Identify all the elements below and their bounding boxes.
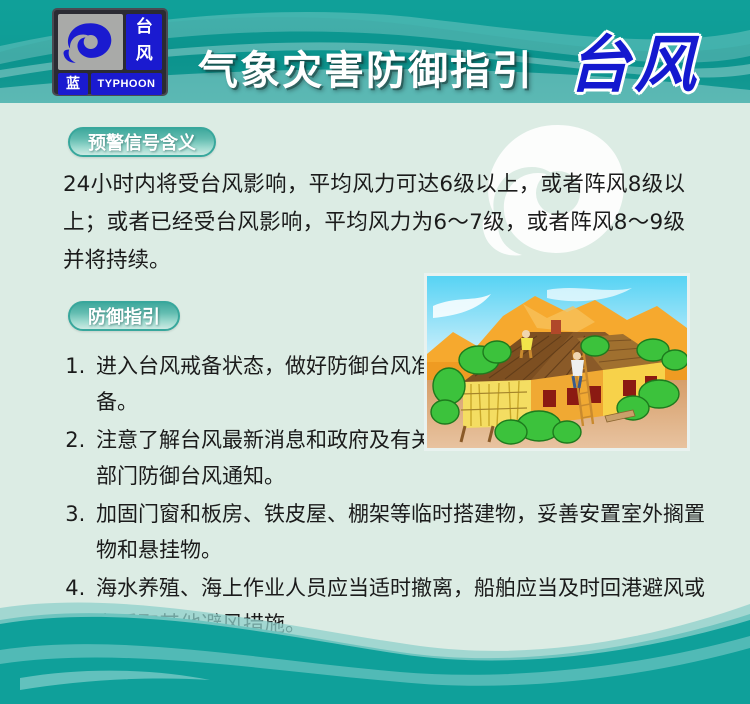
logo-english-label: TYPHOON	[91, 73, 162, 95]
guide-item-4: 海水养殖、海上作业人员应当适时撤离，船舶应当及时回港避风或者采取其他避风措施。	[92, 570, 717, 642]
logo-hazard-char-1: 台	[126, 14, 162, 41]
logo-hazard-label: 台 风	[126, 14, 162, 70]
house-roof-reinforcement-illustration	[424, 273, 690, 451]
logo-hazard-char-2: 风	[126, 41, 162, 68]
section-title-defense-guide: 防御指引	[68, 301, 180, 331]
page-title: 气象灾害防御指引	[198, 38, 534, 96]
poster-root: 台 风 蓝 TYPHOON 气象灾害防御指引 台风 预警信号含义 24小时内将受…	[0, 0, 750, 704]
poster-content: 预警信号含义 24小时内将受台风影响，平均风力可达6级以上，或者阵风8级以上；或…	[0, 103, 750, 704]
guide-item-2: 注意了解台风最新消息和政府及有关部门防御台风通知。	[92, 422, 441, 494]
logo-bottom-row: 蓝 TYPHOON	[58, 73, 162, 95]
logo-level-label: 蓝	[58, 73, 88, 95]
typhoon-signal-logo: 台 风 蓝 TYPHOON	[52, 8, 168, 96]
logo-top-row: 台 风	[58, 14, 162, 70]
poster-header: 台 风 蓝 TYPHOON 气象灾害防御指引 台风	[0, 0, 750, 103]
guide-item-1: 进入台风戒备状态，做好防御台风准备。	[92, 348, 441, 420]
guide-item-3: 加固门窗和板房、铁皮屋、棚架等临时搭建物，妥善安置室外搁置物和悬挂物。	[92, 496, 717, 568]
hazard-title: 台风	[568, 14, 700, 103]
section-title-warning-meaning: 预警信号含义	[68, 127, 216, 157]
typhoon-swirl-icon	[58, 14, 123, 70]
warning-meaning-paragraph: 24小时内将受台风影响，平均风力可达6级以上，或者阵风8级以上；或者已经受台风影…	[63, 166, 685, 280]
